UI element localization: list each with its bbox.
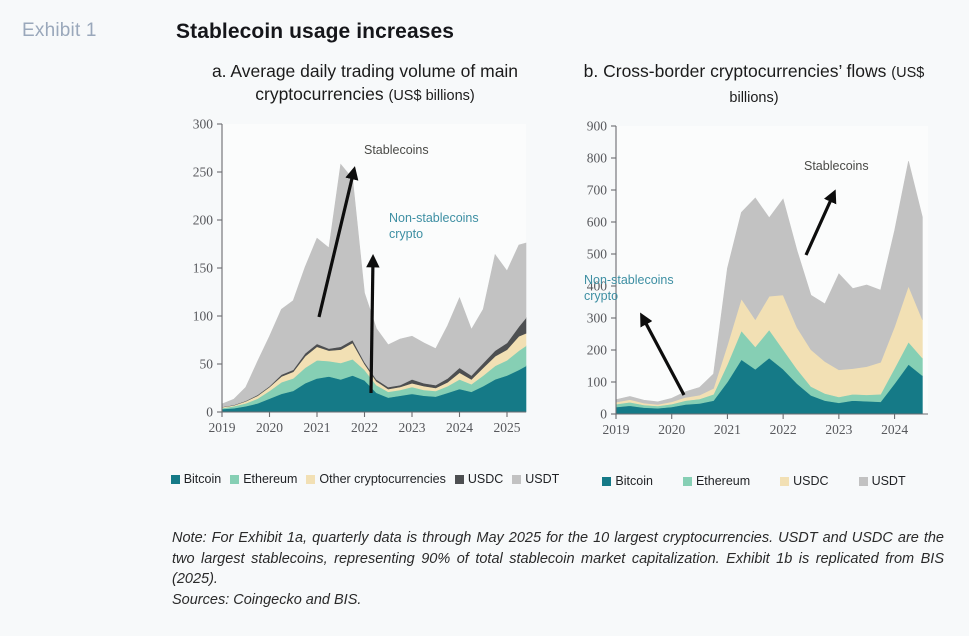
- legend-swatch-icon: [230, 475, 239, 484]
- x-tick-label: 2021: [714, 422, 741, 437]
- x-tick-label: 2022: [770, 422, 797, 437]
- y-tick-label: 0: [206, 405, 213, 420]
- x-tick-label: 2024: [446, 420, 473, 435]
- panel-a-svg: 0501001502002503002019202020212022202320…: [176, 118, 554, 468]
- chart-annotation-label: crypto: [389, 227, 423, 241]
- legend-label: Ethereum: [696, 474, 750, 488]
- legend-swatch-icon: [512, 475, 521, 484]
- annotation-arrow-icon: [371, 258, 373, 393]
- panel-b-legend: BitcoinEthereumUSDCUSDT: [556, 474, 952, 488]
- y-tick-label: 500: [587, 247, 608, 262]
- panel-b-plot: 0100200300400500600700800900201920202021…: [556, 120, 952, 472]
- legend-label: USDT: [872, 474, 906, 488]
- y-tick-label: 250: [193, 165, 214, 180]
- y-tick-label: 50: [200, 357, 214, 372]
- panel-b-title-main: b. Cross-border cryptocurrencies’ flows: [584, 61, 892, 81]
- legend-item[interactable]: Bitcoin: [171, 472, 222, 486]
- x-tick-label: 2023: [399, 420, 426, 435]
- legend-item[interactable]: USDC: [780, 474, 828, 488]
- y-tick-label: 150: [193, 261, 214, 276]
- x-tick-label: 2024: [881, 422, 908, 437]
- chart-panel-b: b. Cross-border cryptocurrencies’ flows …: [556, 60, 952, 488]
- legend-item[interactable]: USDT: [512, 472, 559, 486]
- y-tick-label: 700: [587, 183, 608, 198]
- legend-item[interactable]: USDC: [455, 472, 503, 486]
- legend-label: Other cryptocurrencies: [319, 472, 445, 486]
- legend-item[interactable]: Ethereum: [683, 474, 750, 488]
- chart-panel-a: a. Average daily trading volume of main …: [176, 60, 554, 486]
- legend-swatch-icon: [171, 475, 180, 484]
- x-tick-label: 2025: [494, 420, 521, 435]
- exhibit-label: Exhibit 1: [22, 20, 97, 42]
- panel-a-legend: BitcoinEthereumOther cryptocurrenciesUSD…: [176, 472, 554, 486]
- chart-annotation-label: Non-stablecoins: [584, 273, 674, 287]
- panel-a-title: a. Average daily trading volume of main …: [176, 60, 554, 108]
- chart-annotation-label: crypto: [584, 289, 618, 303]
- legend-label: USDT: [525, 472, 559, 486]
- note-text: Note: For Exhibit 1a, quarterly data is …: [172, 528, 944, 590]
- note-block: Note: For Exhibit 1a, quarterly data is …: [172, 528, 944, 610]
- legend-label: USDC: [793, 474, 828, 488]
- chart-annotation-label: Stablecoins: [804, 159, 869, 173]
- legend-swatch-icon: [859, 477, 868, 486]
- legend-label: Ethereum: [243, 472, 297, 486]
- y-tick-label: 100: [193, 309, 214, 324]
- panel-a-plot: 0501001502002503002019202020212022202320…: [176, 118, 554, 470]
- x-tick-label: 2019: [209, 420, 236, 435]
- panel-b-svg: 0100200300400500600700800900201920202021…: [556, 120, 952, 470]
- y-tick-label: 200: [587, 343, 608, 358]
- panel-a-title-unit: (US$ billions): [389, 88, 475, 104]
- x-tick-label: 2021: [304, 420, 331, 435]
- legend-item[interactable]: Bitcoin: [602, 474, 653, 488]
- x-tick-label: 2020: [256, 420, 283, 435]
- legend-item[interactable]: USDT: [859, 474, 906, 488]
- legend-item[interactable]: Other cryptocurrencies: [306, 472, 445, 486]
- page-title: Stablecoin usage increases: [176, 20, 454, 44]
- legend-label: Bitcoin: [615, 474, 653, 488]
- chart-annotation-label: Non-stablecoins: [389, 211, 479, 225]
- y-tick-label: 900: [587, 120, 608, 134]
- x-tick-label: 2022: [351, 420, 378, 435]
- y-tick-label: 0: [600, 407, 607, 422]
- legend-swatch-icon: [455, 475, 464, 484]
- legend-label: USDC: [468, 472, 503, 486]
- legend-swatch-icon: [602, 477, 611, 486]
- legend-swatch-icon: [780, 477, 789, 486]
- y-tick-label: 100: [587, 375, 608, 390]
- x-tick-label: 2020: [658, 422, 685, 437]
- x-tick-label: 2023: [825, 422, 852, 437]
- legend-swatch-icon: [683, 477, 692, 486]
- x-tick-label: 2019: [603, 422, 630, 437]
- chart-annotation-label: Stablecoins: [364, 143, 429, 157]
- y-tick-label: 200: [193, 213, 214, 228]
- legend-swatch-icon: [306, 475, 315, 484]
- sources-text: Sources: Coingecko and BIS.: [172, 590, 944, 611]
- legend-label: Bitcoin: [184, 472, 222, 486]
- legend-item[interactable]: Ethereum: [230, 472, 297, 486]
- panel-b-title: b. Cross-border cryptocurrencies’ flows …: [556, 60, 952, 110]
- y-tick-label: 800: [587, 151, 608, 166]
- y-tick-label: 300: [193, 118, 214, 132]
- y-tick-label: 300: [587, 311, 608, 326]
- y-tick-label: 600: [587, 215, 608, 230]
